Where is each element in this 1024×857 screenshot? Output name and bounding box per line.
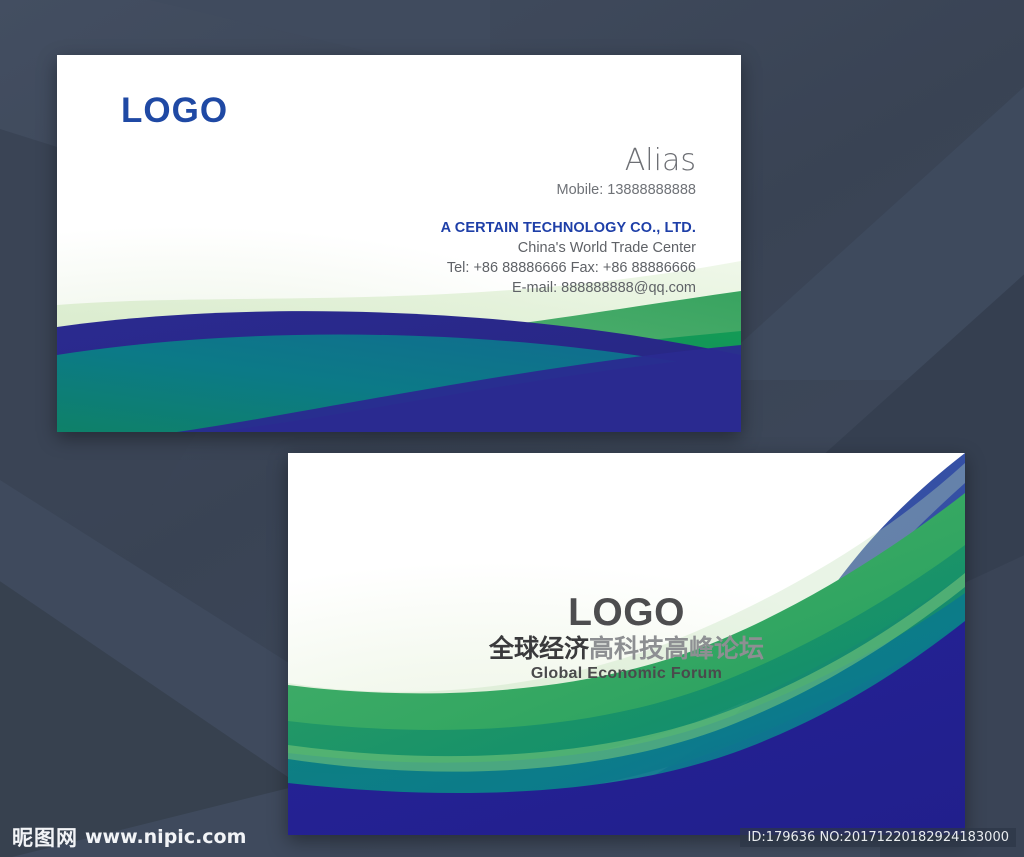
watermark-site-url: www.nipic.com: [85, 826, 246, 848]
contact-mobile: Mobile: 13888888888: [441, 182, 696, 198]
contact-email: E-mail: 888888888@qq.com: [441, 280, 696, 296]
back-title-chinese: 全球经济高科技高峰论坛: [288, 635, 965, 664]
watermark-site: 昵图网 www.nipic.com: [12, 822, 246, 852]
business-card-back[interactable]: LOGO 全球经济高科技高峰论坛 Global Economic Forum: [288, 453, 965, 835]
watermark-site-cn: 昵图网: [12, 822, 78, 852]
back-title-chinese-light: 高科技高峰论坛: [589, 634, 764, 663]
contact-company: A CERTAIN TECHNOLOGY CO., LTD.: [441, 220, 696, 236]
back-title-block: LOGO 全球经济高科技高峰论坛 Global Economic Forum: [288, 593, 965, 683]
contact-telfax: Tel: +86 88886666 Fax: +86 88886666: [441, 260, 696, 276]
back-title-chinese-dark: 全球经济: [489, 634, 589, 663]
watermark-id: ID:179636 NO:20171220182924183000: [740, 828, 1016, 847]
business-card-front[interactable]: LOGO Alias Mobile: 13888888888 A CERTAIN…: [57, 55, 741, 432]
back-title-english: Global Economic Forum: [288, 665, 965, 683]
contact-address: China's World Trade Center: [441, 240, 696, 256]
front-logo: LOGO: [121, 91, 228, 131]
back-logo: LOGO: [288, 593, 965, 632]
contact-block: Alias Mobile: 13888888888 A CERTAIN TECH…: [441, 145, 696, 296]
contact-name: Alias: [441, 145, 696, 177]
